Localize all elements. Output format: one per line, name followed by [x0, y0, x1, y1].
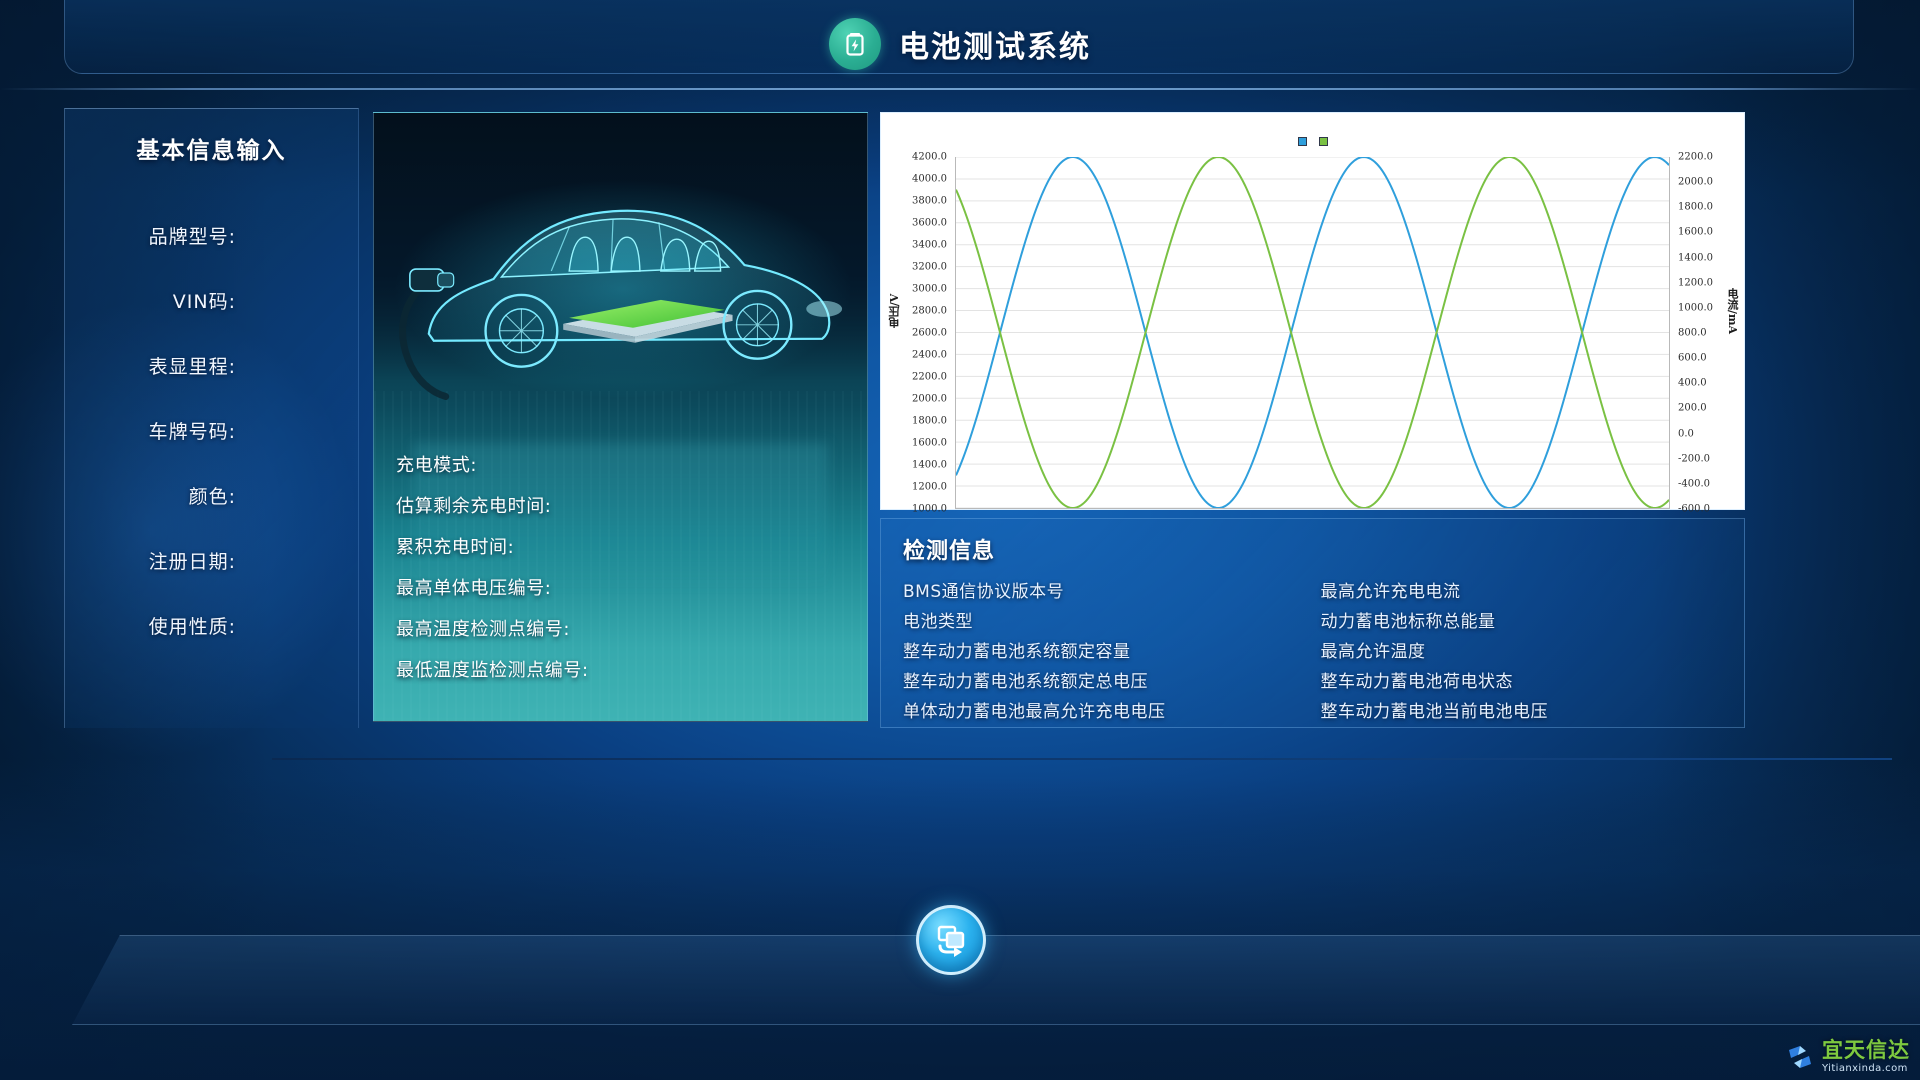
voltage-current-chart: 电压/V 电流/mA 4200.04000.03800.03600.03400.… [880, 112, 1745, 510]
label-max-cell-voltage-no: 最高单体电压编号: [396, 574, 551, 600]
app-header: 电池测试系统 [0, 8, 1920, 80]
battery-bolt-icon [829, 18, 881, 70]
form-row-mileage[interactable]: 表显里程: [65, 333, 358, 398]
axis-tick: 1000.0 [1678, 302, 1713, 313]
detection-info-title: 检测信息 [903, 533, 1722, 565]
detect-item-battery-type[interactable]: 电池类型 [903, 607, 1305, 637]
label-plate-number: 车牌号码: [149, 417, 236, 444]
axis-tick: 3200.0 [912, 262, 947, 273]
detect-item-current-voltage[interactable]: 整车动力蓄电池当前电池电压 [1321, 697, 1723, 727]
detect-item-nominal-energy[interactable]: 动力蓄电池标称总能量 [1321, 607, 1723, 637]
axis-tick: -200.0 [1678, 453, 1710, 464]
charge-row-min-temp-point-no[interactable]: 最低温度监检测点编号: [396, 648, 836, 689]
axis-tick: 2200.0 [1678, 152, 1713, 163]
chart-plot-area [955, 157, 1670, 509]
axis-tick: 2000.0 [1678, 177, 1713, 188]
form-row-plate-number[interactable]: 车牌号码: [65, 398, 358, 463]
form-row-vin[interactable]: VIN码: [65, 268, 358, 333]
legend-swatch-current[interactable] [1319, 137, 1328, 146]
axis-tick: 600.0 [1678, 353, 1707, 364]
page-title: 电池测试系统 [899, 22, 1091, 66]
axis-tick: 1000.0 [912, 504, 947, 515]
detect-item-max-temperature[interactable]: 最高允许温度 [1321, 637, 1723, 667]
label-brand-model: 品牌型号: [149, 222, 236, 249]
form-row-color[interactable]: 颜色: [65, 463, 358, 528]
axis-tick: 3800.0 [912, 196, 947, 207]
axis-tick: 2000.0 [912, 394, 947, 405]
charge-row-total-time[interactable]: 累积充电时间: [396, 525, 836, 566]
electric-vehicle-illustration [374, 119, 867, 439]
charge-row-mode[interactable]: 充电模式: [396, 443, 836, 484]
axis-tick: 1400.0 [912, 460, 947, 471]
label-register-date: 注册日期: [149, 547, 236, 574]
switch-windows-icon[interactable] [916, 905, 986, 975]
axis-tick: -400.0 [1678, 478, 1710, 489]
detect-item-bms-protocol[interactable]: BMS通信协议版本号 [903, 577, 1305, 607]
axis-tick: 0.0 [1678, 428, 1694, 439]
chart-y-axis-left: 4200.04000.03800.03600.03400.03200.03000… [889, 157, 951, 509]
axis-tick: 800.0 [1678, 328, 1707, 339]
watermark-company-cn: 宜天信达 [1822, 1040, 1910, 1061]
legend-swatch-voltage[interactable] [1298, 137, 1307, 146]
detect-item-soc[interactable]: 整车动力蓄电池荷电状态 [1321, 667, 1723, 697]
label-remaining-time: 估算剩余充电时间: [396, 492, 551, 518]
watermark-company-en: Yitianxinda.com [1822, 1064, 1910, 1074]
form-row-brand-model[interactable]: 品牌型号: [65, 203, 358, 268]
vehicle-charging-panel: 充电模式: 估算剩余充电时间: 累积充电时间: 最高单体电压编号: 最高温度检测… [373, 112, 868, 722]
axis-tick: 3600.0 [912, 218, 947, 229]
stage-top-divider [272, 758, 1892, 760]
detect-item-max-charge-current[interactable]: 最高允许充电电流 [1321, 577, 1723, 607]
charge-row-remaining-time[interactable]: 估算剩余充电时间: [396, 484, 836, 525]
label-min-temp-point-no: 最低温度监检测点编号: [396, 656, 589, 682]
watermark: 宜天信达 Yitianxinda.com [1785, 1040, 1910, 1074]
axis-tick: 1400.0 [1678, 252, 1713, 263]
chart-y-axis-right: 2200.02000.01800.01600.01400.01200.01000… [1674, 157, 1736, 509]
axis-tick: -600.0 [1678, 504, 1710, 515]
axis-tick: 4000.0 [912, 174, 947, 185]
charge-row-max-temp-point-no[interactable]: 最高温度检测点编号: [396, 607, 836, 648]
axis-tick: 2800.0 [912, 306, 947, 317]
axis-tick: 1200.0 [912, 482, 947, 493]
label-max-temp-point-no: 最高温度检测点编号: [396, 615, 570, 641]
axis-tick: 1800.0 [912, 416, 947, 427]
axis-tick: 1600.0 [1678, 227, 1713, 238]
detection-info-panel: 检测信息 BMS通信协议版本号 最高允许充电电流 电池类型 动力蓄电池标称总能量… [880, 518, 1745, 728]
chart-body: 4200.04000.03800.03600.03400.03200.03000… [881, 157, 1744, 509]
axis-tick: 2400.0 [912, 350, 947, 361]
label-vin: VIN码: [173, 287, 236, 314]
axis-tick: 2600.0 [912, 328, 947, 339]
label-charge-mode: 充电模式: [396, 451, 477, 477]
label-mileage: 表显里程: [149, 352, 236, 379]
axis-tick: 1600.0 [912, 438, 947, 449]
form-row-usage-type[interactable]: 使用性质: [65, 593, 358, 658]
axis-tick: 3000.0 [912, 284, 947, 295]
stage-plate [72, 935, 1920, 1025]
axis-tick: 1800.0 [1678, 202, 1713, 213]
chart-legend [881, 137, 1744, 146]
detect-item-rated-capacity[interactable]: 整车动力蓄电池系统额定容量 [903, 637, 1305, 667]
axis-tick: 3400.0 [912, 240, 947, 251]
form-row-register-date[interactable]: 注册日期: [65, 528, 358, 593]
label-usage-type: 使用性质: [149, 612, 236, 639]
axis-tick: 4200.0 [912, 152, 947, 163]
axis-tick: 200.0 [1678, 403, 1707, 414]
charge-row-max-cell-voltage-no[interactable]: 最高单体电压编号: [396, 566, 836, 607]
watermark-logo-icon [1785, 1042, 1815, 1072]
axis-tick: 1200.0 [1678, 277, 1713, 288]
axis-tick: 400.0 [1678, 378, 1707, 389]
basic-info-form: 品牌型号: VIN码: 表显里程: 车牌号码: 颜色: 注册日期: 使用性质: [65, 203, 358, 658]
label-total-time: 累积充电时间: [396, 533, 514, 559]
detect-item-rated-total-voltage[interactable]: 整车动力蓄电池系统额定总电压 [903, 667, 1305, 697]
basic-info-title: 基本信息输入 [65, 131, 358, 165]
detect-item-max-cell-voltage[interactable]: 单体动力蓄电池最高允许充电电压 [903, 697, 1305, 727]
axis-tick: 2200.0 [912, 372, 947, 383]
watermark-text: 宜天信达 Yitianxinda.com [1822, 1040, 1910, 1074]
label-color: 颜色: [189, 482, 236, 509]
charging-info-list: 充电模式: 估算剩余充电时间: 累积充电时间: 最高单体电压编号: 最高温度检测… [396, 443, 836, 689]
header-divider [0, 88, 1920, 90]
detection-info-grid: BMS通信协议版本号 最高允许充电电流 电池类型 动力蓄电池标称总能量 整车动力… [903, 577, 1722, 727]
basic-info-panel: 基本信息输入 品牌型号: VIN码: 表显里程: 车牌号码: 颜色: 注册日期:… [64, 108, 359, 728]
